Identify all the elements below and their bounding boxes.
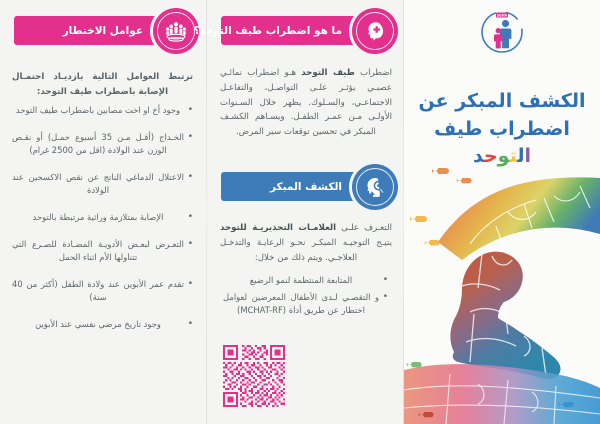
list-item: الاعتلال الدماغي الناتج عن نقص الاكسجين …	[12, 171, 193, 198]
section-header-about-label: ما هو اضطراب طيف التوحد؟	[180, 25, 342, 37]
head-puzzle-icon	[352, 8, 398, 54]
panel-cover: SEMA الكشف المبكر عن اضطراب طيف التوحد	[404, 0, 600, 424]
list-item: الخـداج (أقـل مـن 35 أسبوع حمـل) أو نقـص…	[12, 131, 193, 158]
about-body: اضطراب طيف التوحد هـو اضطراب نمائـي عصبـ…	[220, 66, 392, 140]
risk-factors-list: وجود أخ او اخت مصابين باضطراب طيف التوحد…	[12, 104, 193, 345]
list-item: المتابعة المنتظمة لنمو الرضيع	[223, 274, 388, 288]
section-header-risk-factors-label: عوامل الاختطار	[49, 25, 143, 37]
page-title-word-spectrum: طيف	[434, 118, 482, 140]
list-item: وجود تاريخ مرضي نفسي عند الأبوين	[12, 318, 193, 332]
fold-line-left	[206, 0, 207, 424]
page-title-word-disorder: اضطراب	[489, 118, 570, 140]
parent-and-child-logo: SEMA	[478, 8, 526, 56]
child-puzzle-silhouette	[404, 156, 600, 424]
list-item: و التقصـي لـدى الأطفال المعرضين لعوامل ا…	[223, 291, 388, 318]
panel-about-and-detection: ما هو اضطراب طيف التوحد؟ اضطراب طيف التو…	[207, 0, 404, 424]
head-magnifier-icon	[352, 164, 398, 210]
panel-risk-factors: عوامل الاختطار	[0, 0, 207, 424]
section-header-early-detection-label: الكشف المبكر	[256, 181, 342, 193]
section-header-risk-factors: عوامل الاختطار	[14, 16, 195, 45]
fold-line-right	[403, 0, 404, 424]
early-detection-list: المتابعة المنتظمة لنمو الرضيع و التقصـي …	[223, 274, 388, 321]
section-header-early-detection: الكشف المبكر	[221, 172, 394, 201]
list-item: الإصابة بمتلازمة وراثية مرتبطة بالتوحد	[12, 211, 193, 225]
list-item: التعـرض لبعـض الأدويـة المضـادة للصـرع ا…	[12, 238, 193, 265]
qr-code[interactable]	[223, 345, 285, 407]
risk-factors-lead: ترتبط العوامل التالية بازديـاد احتمـال ا…	[12, 70, 193, 100]
early-detection-body: التعـرف علـى العلامـات التحذيريـة للتوحد…	[220, 221, 392, 265]
svg-text:SEMA: SEMA	[497, 14, 508, 18]
page-title-line-1: الكشف المبكر عن	[419, 90, 586, 112]
section-header-about: ما هو اضطراب طيف التوحد؟	[221, 16, 394, 45]
list-item: وجود أخ او اخت مصابين باضطراب طيف التوحد	[12, 104, 193, 118]
brochure-page: عوامل الاختطار	[0, 0, 600, 424]
list-item: تقدم عمر الأبوين عند ولادة الطفل (أكثر م…	[12, 278, 193, 305]
